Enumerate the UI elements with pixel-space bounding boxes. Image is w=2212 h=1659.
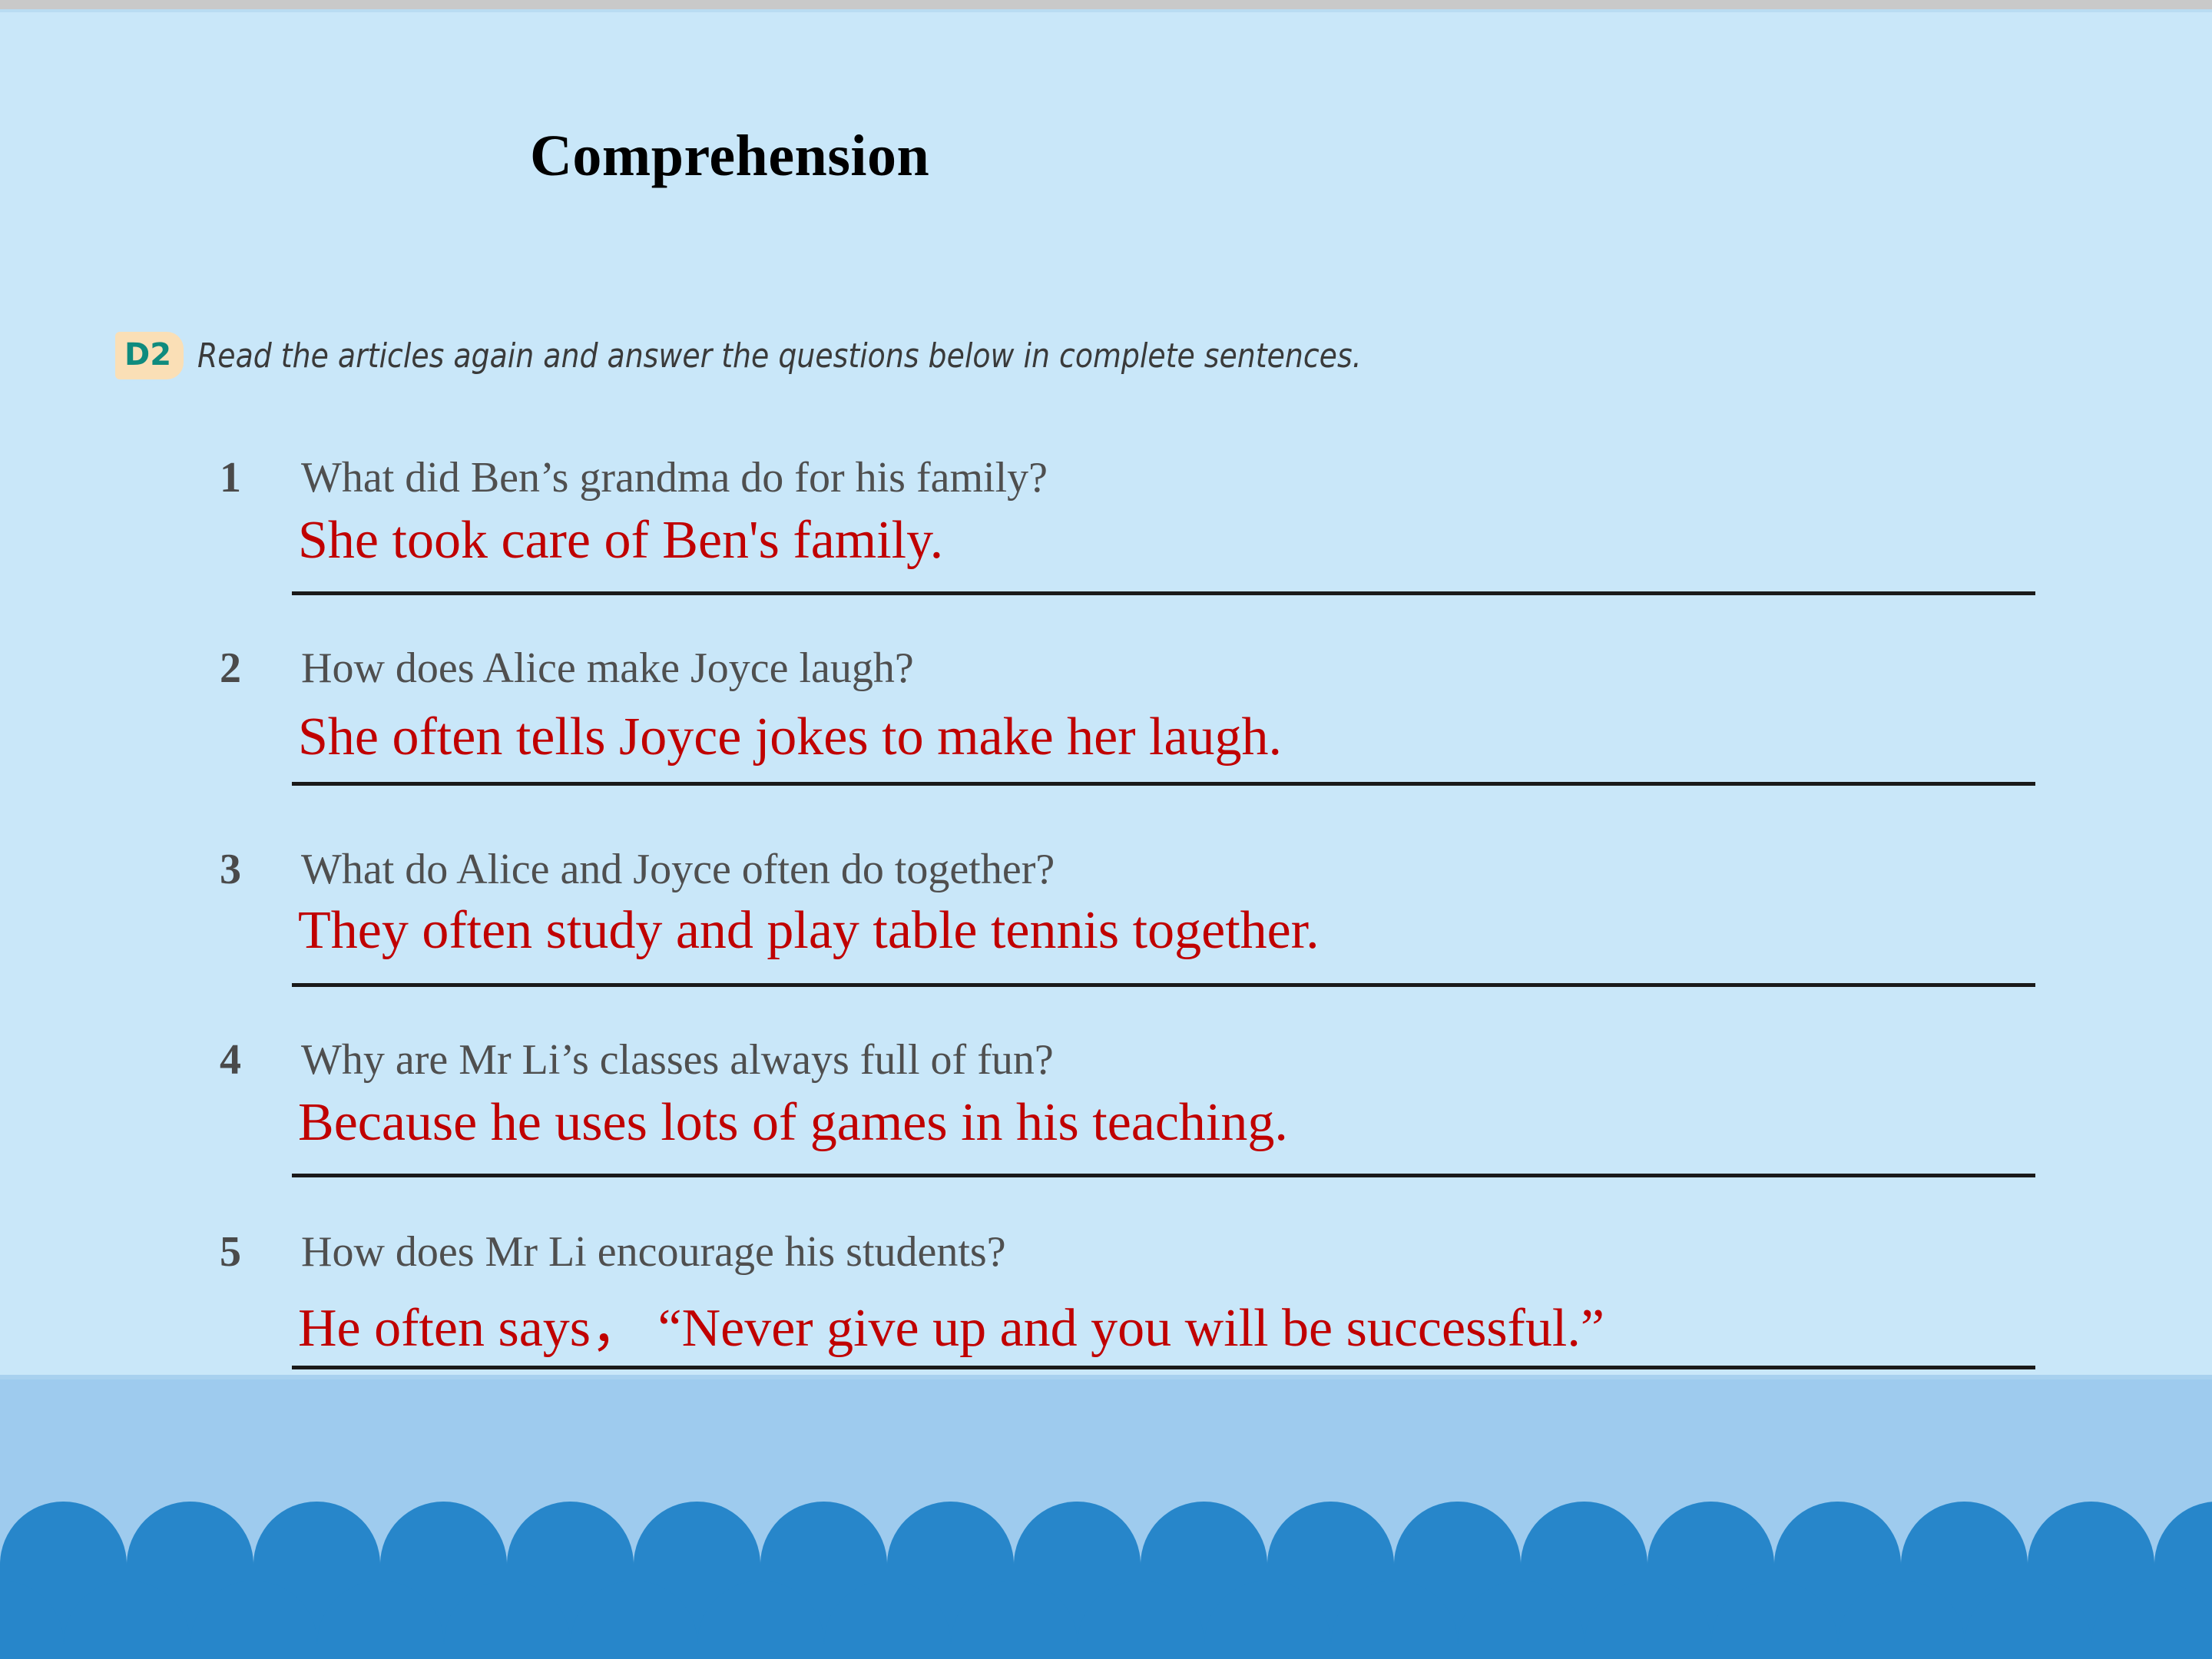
arch-shape [1584,1581,1711,1659]
arch-shape [824,1581,951,1659]
question-row: 3 What do Alice and Joyce often do toget… [0,845,2212,906]
answer-text[interactable]: She often tells Joyce jokes to make her … [298,707,1282,768]
answer-text[interactable]: Because he uses lots of games in his tea… [298,1092,1288,1154]
qa-item: 3 What do Alice and Joyce often do toget… [0,845,2212,1035]
question-text: Why are Mr Li’s classes always full of f… [301,1035,1054,1084]
arch-shape [0,1581,64,1659]
qa-item: 2 How does Alice make Joyce laugh? She o… [0,644,2212,845]
arch-shape [1965,1581,2091,1659]
answer-underline [292,1174,2035,1177]
question-row: 5 How does Mr Li encourage his students? [0,1227,2212,1289]
arch-shape [444,1581,571,1659]
arch-shape [1458,1581,1584,1659]
question-number: 4 [220,1035,241,1084]
arch-row-bottom [0,1581,2212,1659]
arch-shape [64,1581,190,1659]
question-number: 1 [220,453,241,502]
qa-item: 4 Why are Mr Li’s classes always full of… [0,1035,2212,1227]
question-text: How does Mr Li encourage his students? [301,1227,1006,1277]
question-row: 1 What did Ben’s grandma do for his fami… [0,453,2212,515]
instruction-row: D2 Read the articles again and answer th… [115,332,1551,379]
question-text: How does Alice make Joyce laugh? [301,644,914,693]
question-answer-list: 1 What did Ben’s grandma do for his fami… [0,453,2212,1419]
answer-text[interactable]: They often study and play table tennis t… [298,900,1320,962]
page-title: Comprehension [530,123,929,190]
answer-row[interactable]: Because he uses lots of games in his tea… [0,1097,2212,1189]
question-text: What do Alice and Joyce often do togethe… [301,845,1055,894]
arch-shape [190,1581,317,1659]
top-gray-strip [0,0,2212,9]
exercise-badge-d2: D2 [115,332,184,379]
question-text: What did Ben’s grandma do for his family… [301,453,1048,502]
arch-shape [1078,1581,1204,1659]
qa-item: 1 What did Ben’s grandma do for his fami… [0,453,2212,644]
question-number: 3 [220,845,241,894]
arch-shape [571,1581,697,1659]
arch-shape [2091,1581,2212,1659]
arch-shape [317,1581,444,1659]
question-row: 4 Why are Mr Li’s classes always full of… [0,1035,2212,1097]
slide-canvas: Comprehension D2 Read the articles again… [0,0,2212,1659]
answer-row[interactable]: She took care of Ben's family. [0,515,2212,607]
answer-text[interactable]: She took care of Ben's family. [298,510,943,571]
arch-shape [951,1581,1078,1659]
answer-underline [292,591,2035,595]
answer-text[interactable]: He often says， “Never give up and you wi… [298,1284,1604,1362]
answer-underline [292,782,2035,786]
top-edge-line [0,9,2212,12]
arch-shape [697,1581,824,1659]
instruction-text: Read the articles again and answer the q… [197,336,1362,376]
arch-shape [1838,1581,1965,1659]
question-number: 2 [220,644,241,693]
arch-shape [1204,1581,1331,1659]
arch-shape [1711,1581,1838,1659]
question-number: 5 [220,1227,241,1277]
answer-row[interactable]: They often study and play table tennis t… [0,906,2212,998]
footer-divider [0,1375,2212,1379]
answer-row[interactable]: He often says， “Never give up and you wi… [0,1289,2212,1381]
answer-row[interactable]: She often tells Joyce jokes to make her … [0,705,2212,797]
answer-underline [292,983,2035,987]
question-row: 2 How does Alice make Joyce laugh? [0,644,2212,705]
answer-underline [292,1366,2035,1369]
arch-shape [1331,1581,1458,1659]
